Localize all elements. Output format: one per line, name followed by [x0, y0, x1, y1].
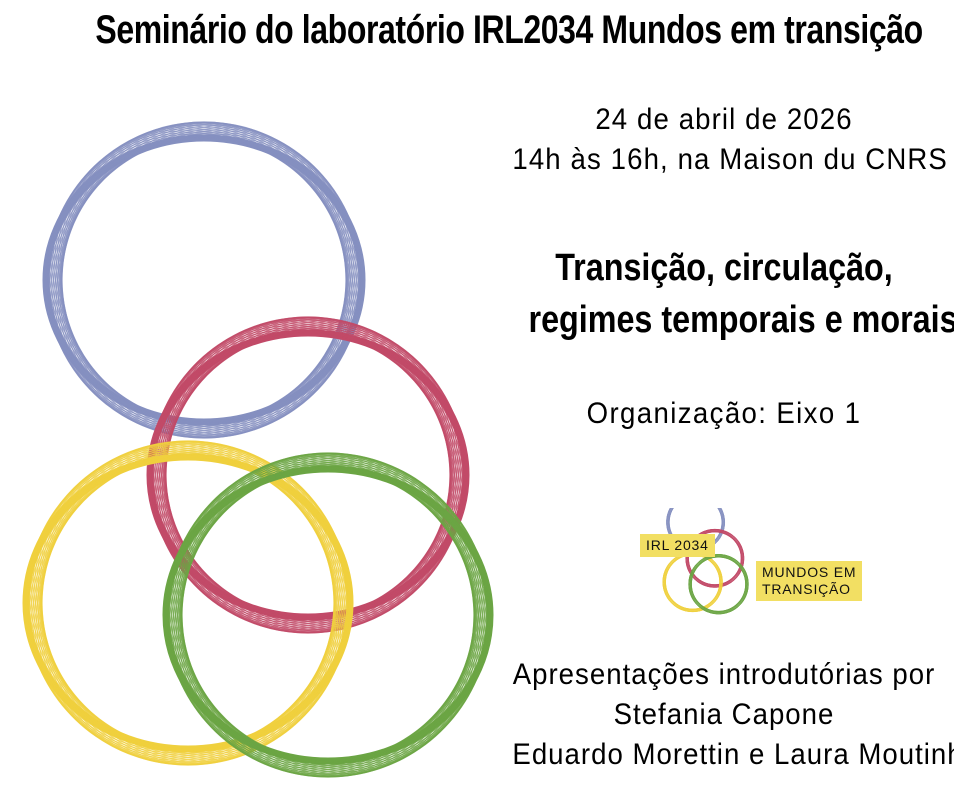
theme-line-2: regimes temporais e morais — [529, 294, 920, 346]
organisation-line: Organização: Eixo 1 — [512, 396, 935, 432]
logo-tag-mundos-line2: TRANSIÇÃO — [762, 581, 851, 597]
event-time-place: 14h às 16h, na Maison du CNRS — [512, 140, 935, 180]
right-column: 24 de abril de 2026 14h às 16h, na Maiso… — [494, 100, 954, 432]
spirograph-artwork — [0, 95, 530, 800]
presenters-intro: Apresentações introdutórias por — [512, 655, 935, 695]
presenter-1: Stefania Capone — [512, 695, 935, 735]
presenter-2: Eduardo Morettin e Laura Moutinho — [512, 735, 935, 775]
presenters-block: Apresentações introdutórias por Stefania… — [494, 655, 954, 775]
event-date: 24 de abril de 2026 — [512, 100, 935, 140]
page-title: Seminário do laboratório IRL2034 Mundos … — [95, 8, 858, 52]
logo-tag-irl: IRL 2034 — [640, 534, 715, 557]
logo-tag-mundos: MUNDOS EM TRANSIÇÃO — [756, 561, 862, 601]
poster-root: Seminário do laboratório IRL2034 Mundos … — [0, 0, 954, 800]
irl2034-logo: IRL 2034 MUNDOS EM TRANSIÇÃO — [634, 508, 874, 620]
spirograph-svg — [0, 95, 530, 800]
theme-line-1: Transição, circulação, — [529, 242, 920, 294]
logo-tag-mundos-line1: MUNDOS EM — [762, 564, 856, 580]
